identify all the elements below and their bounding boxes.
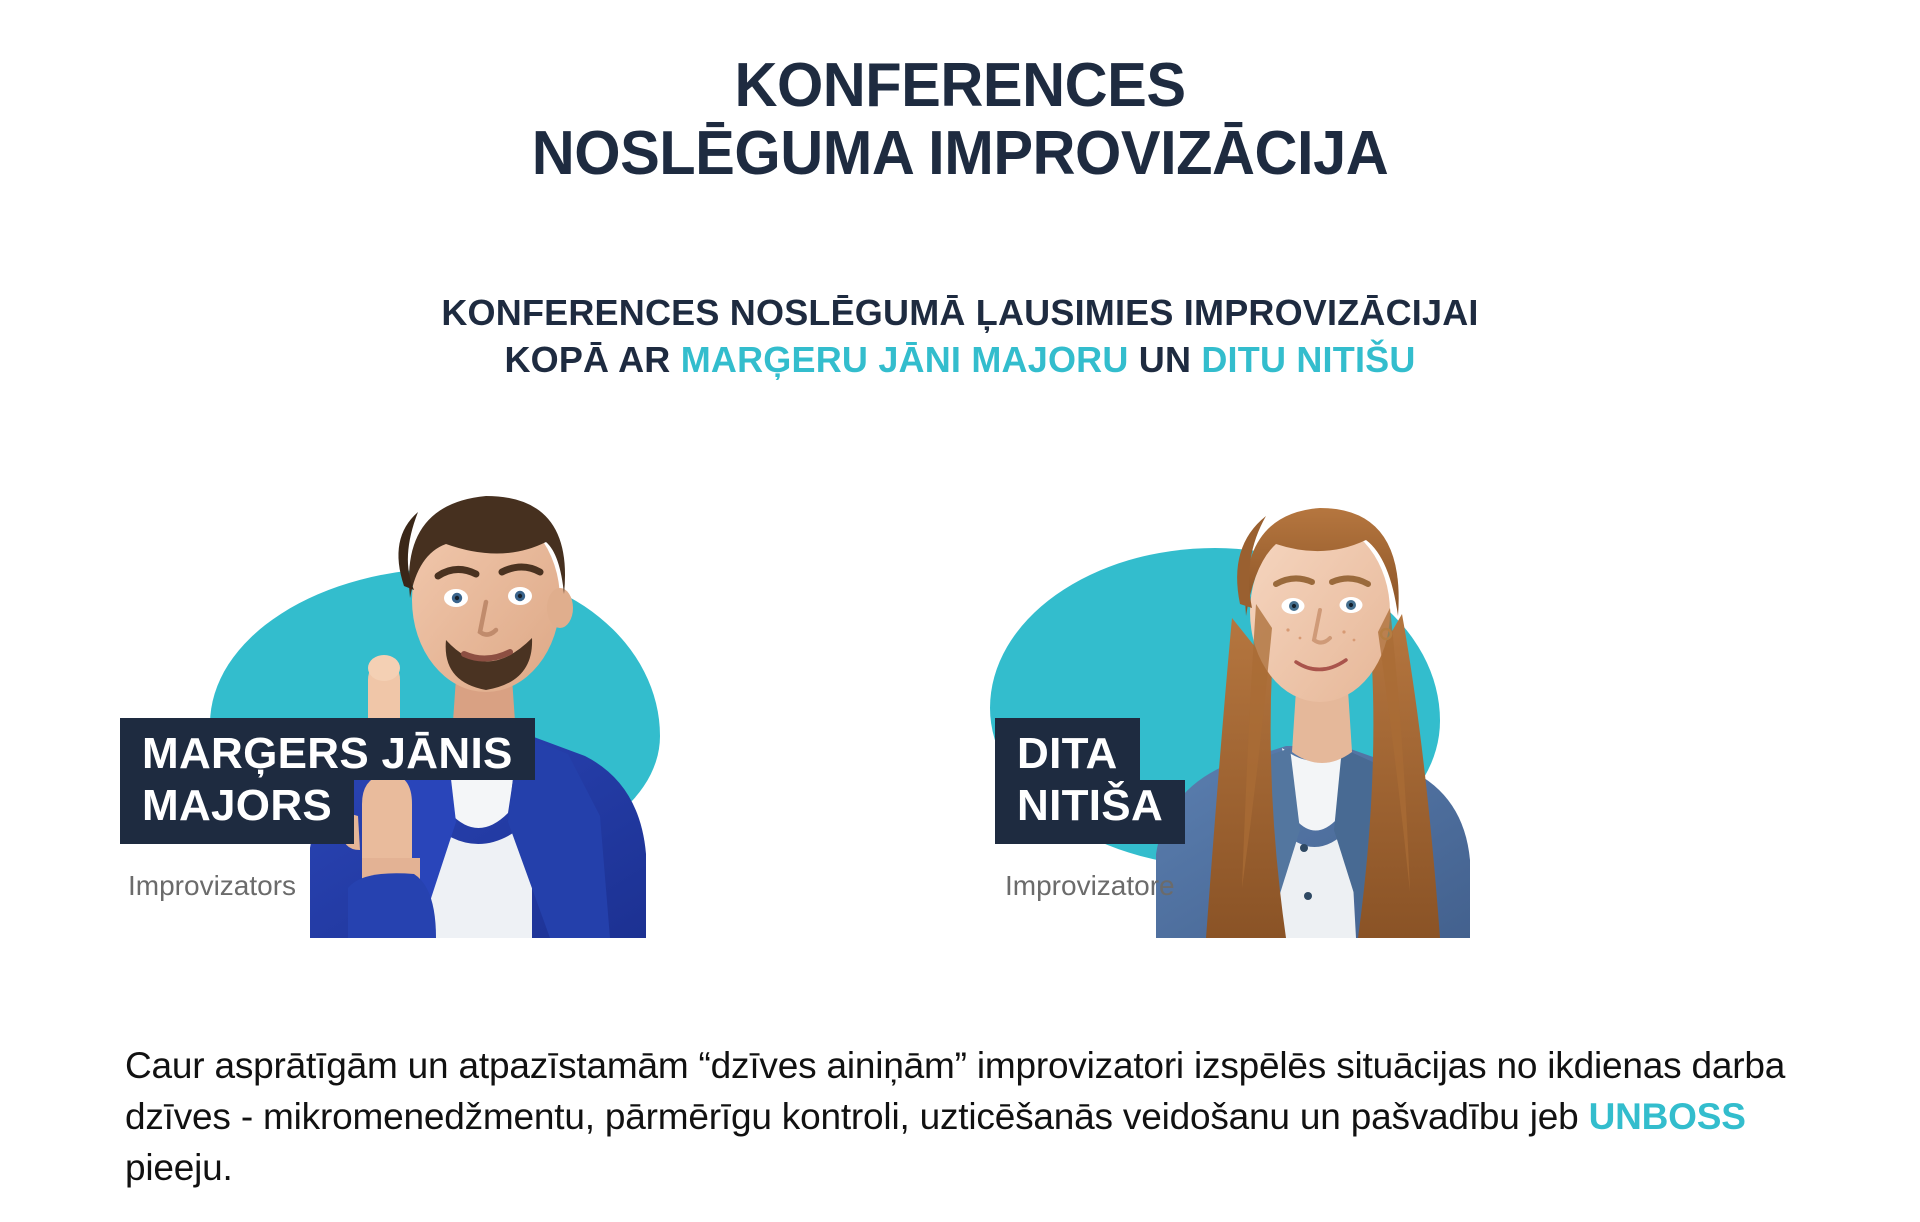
speaker-role-dita: Improvizatore (1005, 870, 1175, 902)
subtitle-conjunction: UN (1129, 339, 1202, 380)
speakers-row: MARĢERS JĀNIS MAJORS Improvizators (0, 418, 1920, 978)
description-part-1: Caur asprātīgām un atpazīstamām “dzīves … (125, 1045, 1785, 1137)
speaker-name-line-1: DITA (995, 718, 1140, 780)
speaker-name-line-2: MAJORS (120, 780, 354, 844)
slide-canvas: KONFERENCES NOSLĒGUMA IMPROVIZĀCIJA KONF… (0, 0, 1920, 1222)
description-paragraph: Caur asprātīgām un atpazīstamām “dzīves … (125, 1040, 1805, 1193)
portrait-dita-nitisa (1090, 418, 1520, 938)
speaker-card-dita: DITA NITIŠA Improvizatore (960, 418, 1660, 978)
speaker-role-margers: Improvizators (128, 870, 296, 902)
speaker-name-line-2: NITIŠA (995, 780, 1185, 844)
speaker-name-highlight-2: DITU NITIŠU (1201, 339, 1415, 380)
portrait-margers-janis-majors (250, 418, 680, 938)
speaker-name-badge-margers: MARĢERS JĀNIS MAJORS (120, 718, 535, 844)
speaker-name-highlight-1: MARĢERU JĀNI MAJORU (681, 339, 1129, 380)
unboss-highlight: UNBOSS (1589, 1096, 1746, 1137)
speaker-card-margers: MARĢERS JĀNIS MAJORS Improvizators (120, 418, 820, 978)
title-line-2: NOSLĒGUMA IMPROVIZĀCIJA (38, 120, 1881, 188)
description-part-2: pieeju. (125, 1147, 233, 1188)
page-title: KONFERENCES NOSLĒGUMA IMPROVIZĀCIJA (0, 52, 1920, 188)
subtitle-line-2: KOPĀ AR MARĢERU JĀNI MAJORU UN DITU NITI… (0, 337, 1920, 384)
subtitle-prefix: KOPĀ AR (504, 339, 680, 380)
subtitle-line-1: KONFERENCES NOSLĒGUMĀ ĻAUSIMIES IMPROVIZ… (0, 290, 1920, 337)
title-line-1: KONFERENCES (38, 52, 1881, 120)
speaker-name-line-1: MARĢERS JĀNIS (120, 718, 535, 780)
speaker-name-badge-dita: DITA NITIŠA (995, 718, 1185, 844)
subtitle: KONFERENCES NOSLĒGUMĀ ĻAUSIMIES IMPROVIZ… (0, 290, 1920, 384)
